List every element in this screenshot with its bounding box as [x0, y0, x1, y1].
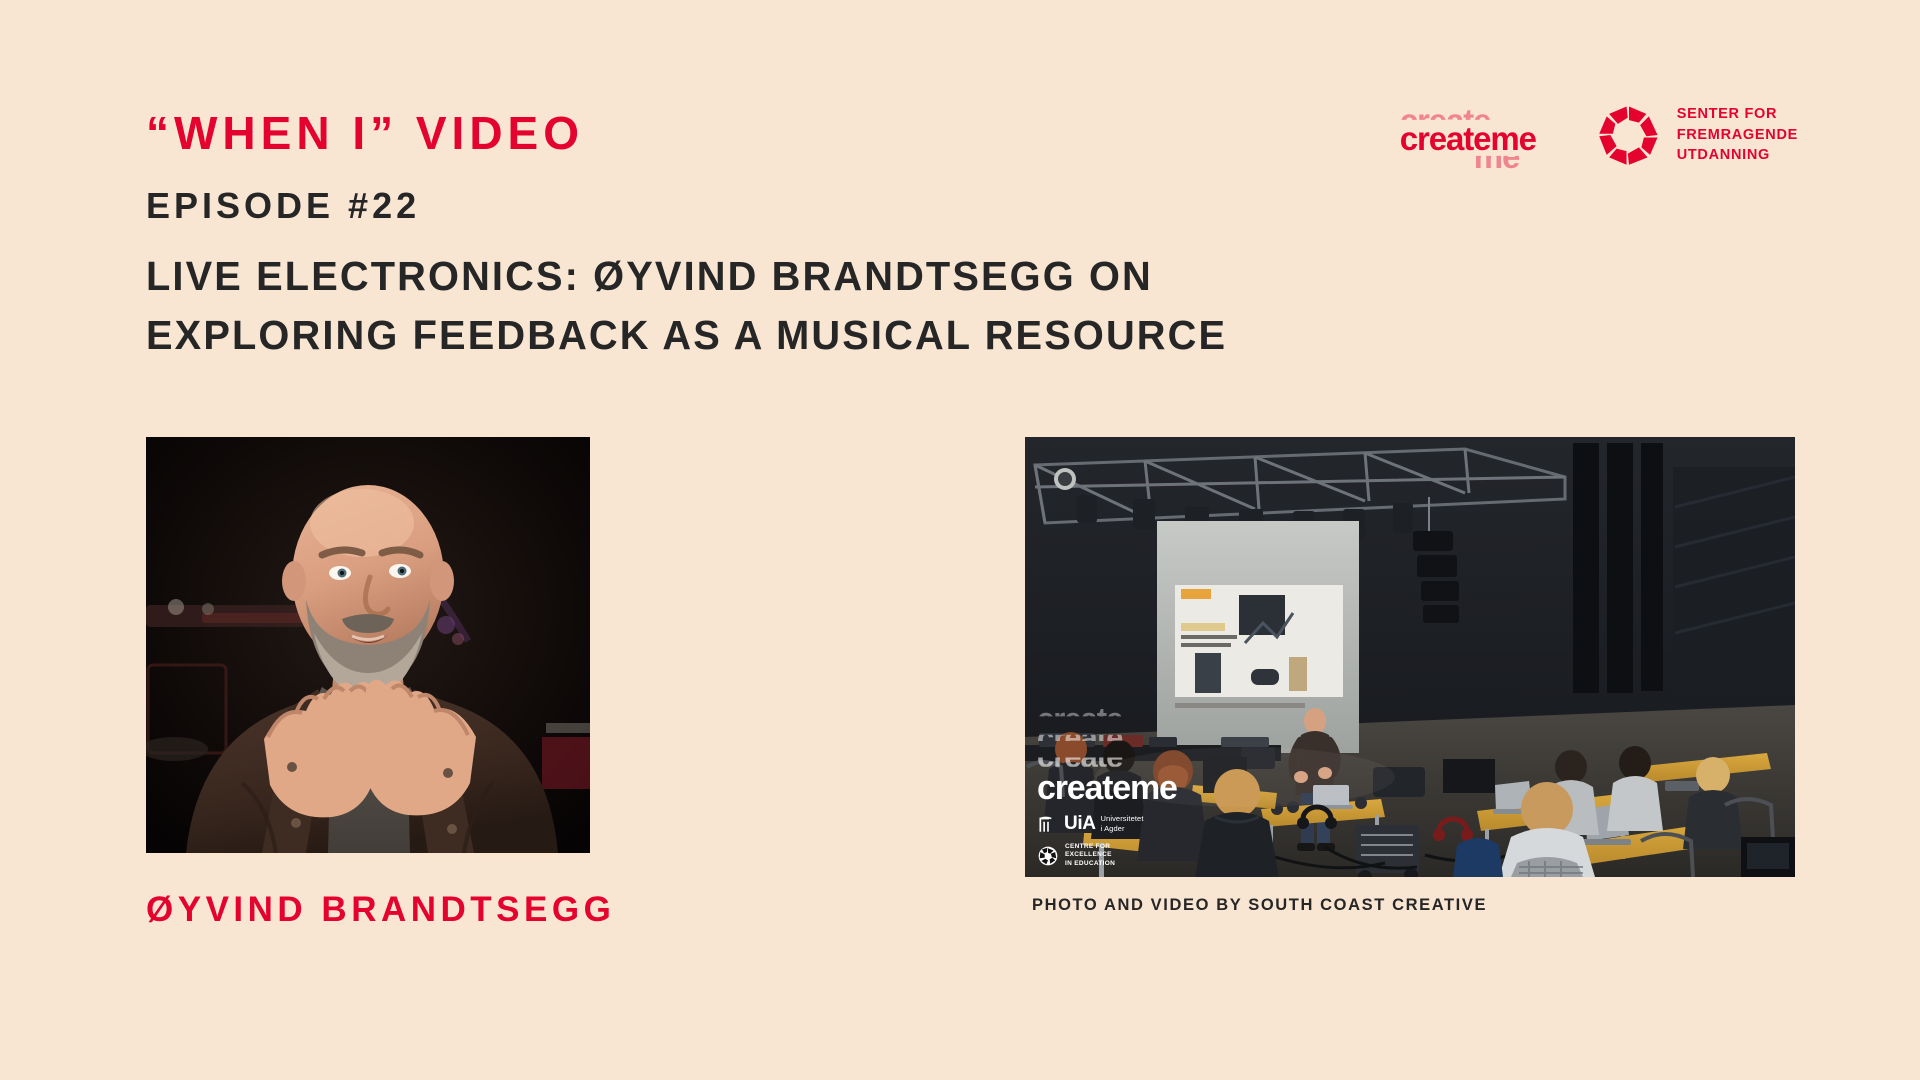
aperture-octagon-icon: [1598, 104, 1660, 166]
subtitle-line-2: EXPLORING FEEDBACK AS A MUSICAL RESOURCE: [146, 306, 1504, 365]
logo-row: create createme me SENTER FOR FREM: [1400, 104, 1798, 166]
subtitle-block: LIVE ELECTRONICS: ØYVIND BRANDTSEGG ON E…: [146, 247, 1546, 365]
episode-number: EPISODE #22: [146, 186, 1546, 226]
page-title: “WHEN I” VIDEO: [146, 108, 1546, 159]
photo-credit: PHOTO AND VIDEO BY SOUTH COAST CREATIVE: [1032, 896, 1487, 915]
createme-logo: create createme me: [1400, 104, 1550, 166]
portrait-image: [146, 437, 590, 853]
createme-wordmark: createme: [1400, 122, 1536, 155]
senter-line-1: SENTER FOR: [1677, 104, 1798, 125]
senter-line-2: FREMRAGENDE: [1677, 125, 1798, 146]
portrait-caption: ØYVIND BRANDTSEGG: [146, 890, 615, 930]
senter-line-3: UTDANNING: [1677, 145, 1798, 166]
senter-logo-text: SENTER FOR FREMRAGENDE UTDANNING: [1677, 104, 1798, 166]
senter-for-fremragende-utdanning-logo: SENTER FOR FREMRAGENDE UTDANNING: [1598, 104, 1798, 166]
portrait-illustration: [146, 437, 590, 853]
poster-canvas: “WHEN I” VIDEO EPISODE #22 LIVE ELECTRON…: [0, 0, 1920, 1080]
subtitle-line-1: LIVE ELECTRONICS: ØYVIND BRANDTSEGG ON: [146, 247, 1504, 306]
header-text-block: “WHEN I” VIDEO EPISODE #22 LIVE ELECTRON…: [146, 108, 1546, 365]
scene-image: create create create createme UiA Univer…: [1025, 437, 1795, 877]
scene-illustration: [1025, 437, 1795, 877]
